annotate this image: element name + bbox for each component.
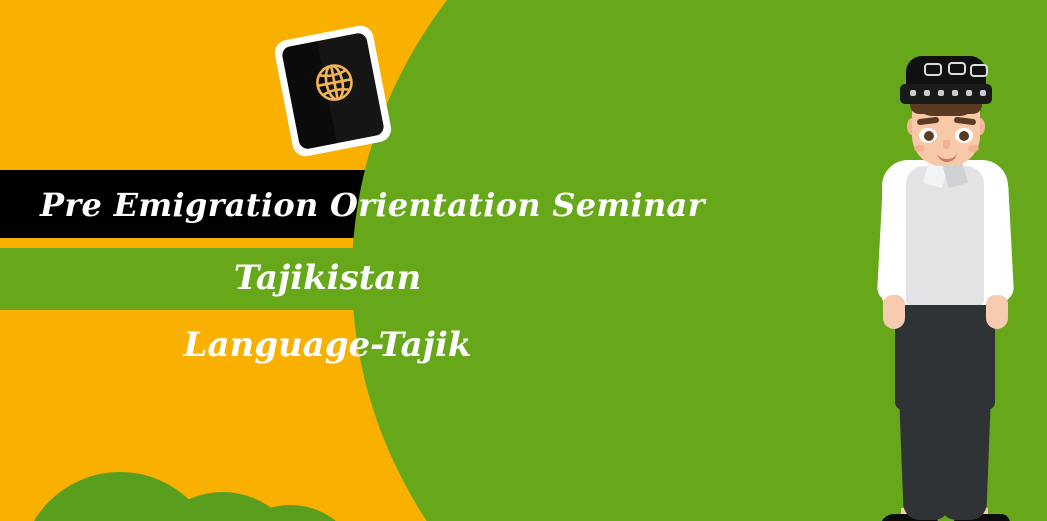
cap-band-dot	[938, 90, 944, 96]
shirt	[882, 160, 1008, 305]
trouser-hips	[895, 290, 995, 410]
cap-band-dot	[966, 90, 972, 96]
globe-icon	[309, 57, 361, 109]
vest	[906, 166, 984, 305]
cheek-right	[968, 145, 979, 152]
cap-embroidery-motif	[970, 64, 988, 77]
tubeteika-cap-icon	[900, 56, 992, 104]
seminar-poster: Pre Emigration Orientation Seminar Tajik…	[0, 0, 1047, 521]
cap-embroidery-motif	[924, 63, 942, 76]
cap-band-dot	[910, 90, 916, 96]
cap-band-dot	[924, 90, 930, 96]
page-title: Pre Emigration Orientation Seminar	[40, 178, 700, 232]
country-label: Tajikistan	[0, 258, 655, 298]
pupil-left	[924, 131, 934, 141]
hand-left	[883, 295, 905, 329]
trousers	[895, 290, 995, 520]
pupil-right	[959, 131, 969, 141]
language-label: Language-Tajik	[0, 325, 655, 365]
tajik-man-illustration	[860, 42, 1030, 521]
cap-embroidery-motif	[948, 62, 966, 75]
cap-band-dot	[980, 90, 986, 96]
cheek-left	[914, 145, 925, 152]
hand-right	[986, 295, 1008, 329]
cap-band-dot	[952, 90, 958, 96]
nose	[943, 140, 950, 149]
